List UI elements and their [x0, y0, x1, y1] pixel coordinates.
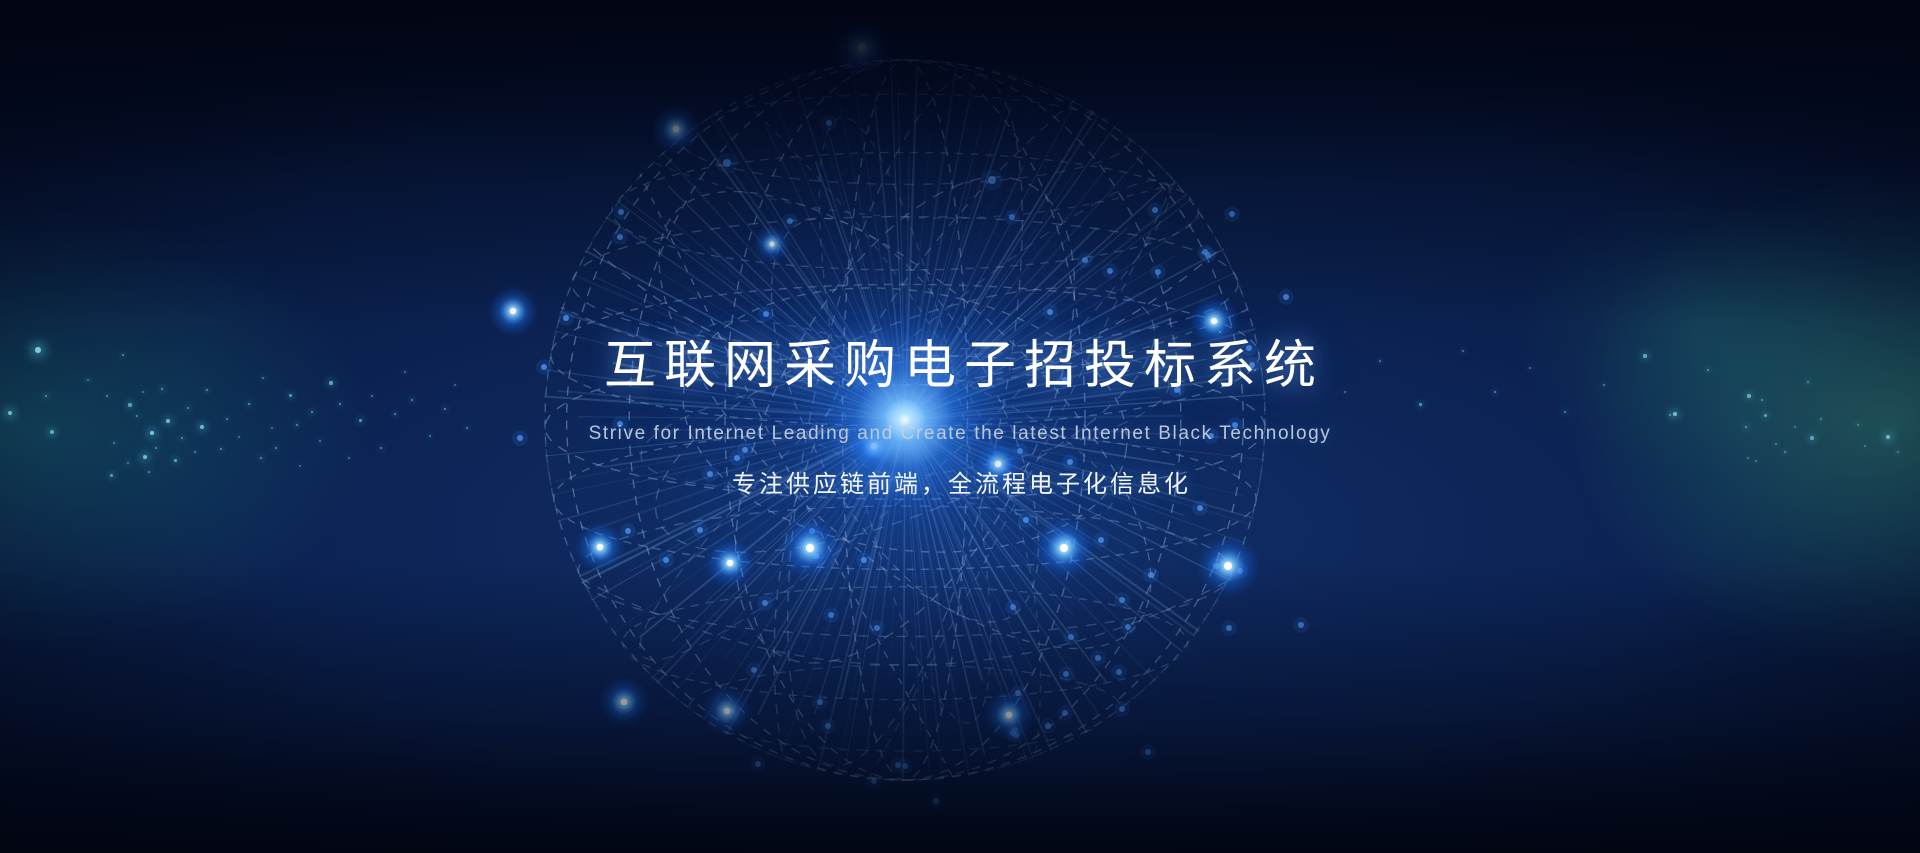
hero-banner: 互联网采购电子招投标系统 Strive for Internet Leading…	[0, 0, 1920, 853]
subtitle-english: Strive for Internet Leading and Create t…	[589, 422, 1332, 446]
subtitle-chinese: 专注供应链前端，全流程电子化信息化	[729, 469, 1191, 501]
page-title: 互联网采购电子招投标系统	[596, 336, 1324, 396]
